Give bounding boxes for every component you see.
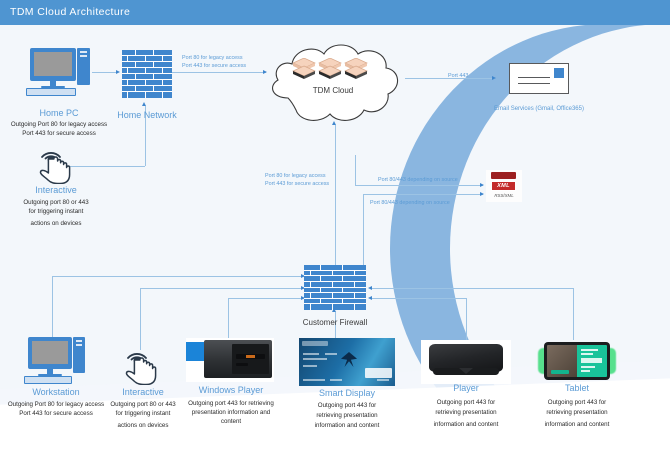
connector-firewall-cloud <box>335 125 336 265</box>
arrowhead-tablet <box>368 286 372 290</box>
smart-display-desc-3: information and content <box>295 421 399 430</box>
connector-interactive-bottom-h <box>140 288 304 289</box>
connector-interactive-bottom-v <box>140 288 141 350</box>
edge-label-cloud-xml-1: Port 80/443 depending on source <box>378 176 458 184</box>
smart-display-label: Smart Display <box>297 388 397 399</box>
home-pc-desc-2: Port 443 for secure access <box>2 129 116 138</box>
player-label: Player <box>421 383 511 394</box>
rss-xml-label: RSS/XML <box>486 193 522 198</box>
edge-label-fw-cloud-2: Port 443 for secure access <box>265 180 329 188</box>
player-desc-2: retrieving presentation <box>418 408 514 417</box>
arrowhead-homepc-homenetwork <box>116 70 120 74</box>
connector-player-v <box>466 298 467 346</box>
email-services-label: Email Services (Gmail, Office365) <box>489 105 589 114</box>
smart-display-desc-1: Outgoing port 443 for <box>295 401 399 410</box>
tablet-desc-2: retrieving presentation <box>528 408 626 417</box>
arrowhead-xml-1 <box>480 183 484 187</box>
tablet-icon[interactable] <box>536 340 618 384</box>
touch-hand-icon[interactable] <box>122 343 162 385</box>
interactive-top-label: Interactive <box>6 185 106 196</box>
connector-workstation-h <box>52 276 304 277</box>
node-home-pc[interactable] <box>24 48 94 100</box>
windows-player-desc-2: presentation information and <box>176 408 286 417</box>
cloud-with-servers-icon[interactable] <box>258 36 410 128</box>
connector-xml-1-v <box>355 155 356 185</box>
media-player-box-icon[interactable] <box>421 340 511 384</box>
arrowhead-player <box>368 296 372 300</box>
edge-label-cloud-xml-2: Port 80/443 depending on source <box>370 199 450 207</box>
arrowhead-cloud-email <box>492 76 496 80</box>
server-stack-3 <box>344 58 368 85</box>
home-network-firewall-icon[interactable] <box>122 50 172 98</box>
diagram-canvas: TDM Cloud Architecture Port 80 for <box>0 0 670 473</box>
customer-firewall-label: Customer Firewall <box>285 318 385 327</box>
xml-badge: XML <box>491 181 516 191</box>
arrowhead-xml-2 <box>480 192 484 196</box>
connector-xml-2-h <box>363 194 483 195</box>
home-pc-desc-1: Outgoing Port 80 for legacy access <box>2 120 116 129</box>
player-desc-1: Outgoing port 443 for <box>418 398 514 407</box>
player-desc-3: information and content <box>418 420 514 429</box>
smart-display-icon[interactable] <box>299 338 395 386</box>
connector-xml-2-v <box>363 194 364 265</box>
interactive-top-desc-3: actions on devices <box>4 219 108 228</box>
connector-homepc-homenetwork <box>92 72 118 73</box>
envelope-icon[interactable] <box>509 63 569 94</box>
edge-label-cloud-email: Port 443 <box>448 72 468 80</box>
connector-interactive-top-h <box>66 166 145 167</box>
windows-player-desc-3: content <box>176 417 286 426</box>
connector-homenetwork-cloud <box>172 72 266 73</box>
connector-tablet-h <box>372 288 573 289</box>
interactive-bottom-label: Interactive <box>98 387 188 398</box>
windows-badge-text: Windows 10 <box>187 362 205 370</box>
arrowhead-interactive-top <box>142 102 146 106</box>
home-network-label: Home Network <box>97 110 197 121</box>
connector-tablet-v <box>573 288 574 340</box>
windows-player-desc-1: Outgoing port 443 for retrieving <box>176 399 286 408</box>
connector-player-h <box>372 298 466 299</box>
connector-windowsplayer-h <box>228 298 304 299</box>
windows-player-label: Windows Player <box>183 385 279 396</box>
mini-pc-icon[interactable]: Windows 10 <box>186 338 274 382</box>
customer-firewall-icon[interactable] <box>304 265 366 310</box>
page-title: TDM Cloud Architecture <box>10 6 130 18</box>
server-stack-2 <box>318 58 342 85</box>
tdm-cloud-label: TDM Cloud <box>288 86 378 95</box>
edge-label-home-cloud-1: Port 80 for legacy access <box>182 54 243 62</box>
tablet-desc-3: information and content <box>528 420 626 429</box>
connector-xml-1-h <box>355 185 483 186</box>
workstation-label: Workstation <box>6 387 106 398</box>
tablet-label: Tablet <box>532 383 622 394</box>
edge-label-home-cloud-2: Port 443 for secure access <box>182 62 246 70</box>
interactive-top-desc-2: for triggering instant <box>4 207 108 216</box>
title-bar: TDM Cloud Architecture <box>0 0 670 25</box>
edge-label-fw-cloud-1: Port 80 for legacy access <box>265 172 326 180</box>
server-stack-1 <box>292 58 316 85</box>
touch-hand-icon[interactable] <box>36 142 76 184</box>
interactive-top-desc-1: Outgoing port 80 or 443 <box>4 198 108 207</box>
smart-display-desc-2: retrieving presentation <box>295 411 399 420</box>
xml-document-icon[interactable]: XML RSS/XML <box>486 170 522 202</box>
node-workstation[interactable] <box>22 337 90 387</box>
tablet-desc-1: Outgoing port 443 for <box>528 398 626 407</box>
